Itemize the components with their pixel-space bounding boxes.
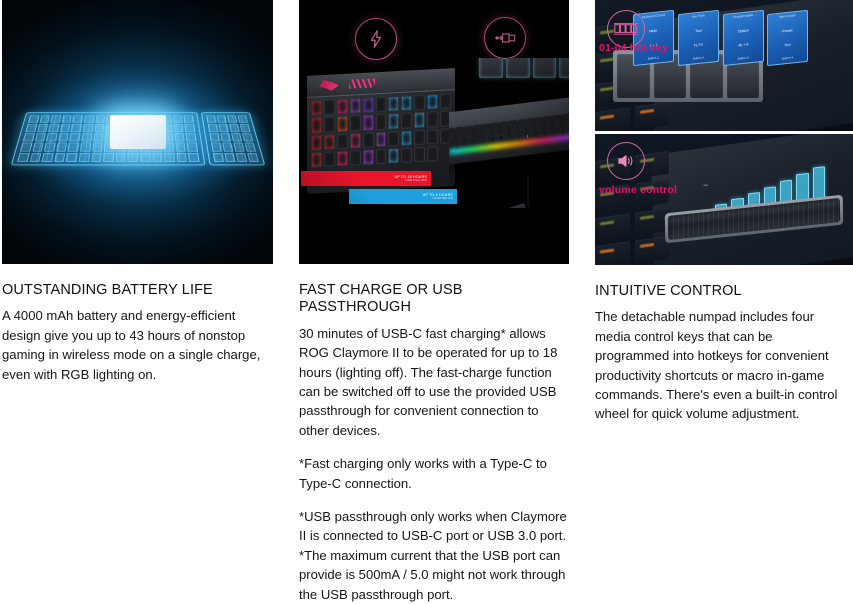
feature-column-battery: OUTSTANDING BATTERY LIFE A 4000 mAh batt…	[2, 0, 273, 384]
hot-key-card: Macro Audio Preset Tool Button 4	[767, 10, 808, 66]
volume-decrease-label: −	[703, 180, 708, 190]
rog-stripe-decor	[349, 78, 375, 88]
card-line1: Mute	[649, 28, 657, 33]
feature-body-fast-charge-2: *Fast charging only works with a Type-C …	[299, 454, 569, 493]
feature-heading-intuitive-control: INTUITIVE CONTROL	[595, 283, 853, 300]
keyboard-rgb-key-grid	[311, 93, 451, 167]
feature-column-intuitive-control: Keyboard Control Mute ( ⌄ ) Button 1 Key…	[595, 0, 853, 424]
feature-body-fast-charge-1: 30 minutes of USB-C fast charging* allow…	[299, 324, 569, 440]
feature-highlights-page: OUTSTANDING BATTERY LIFE A 4000 mAh batt…	[0, 0, 853, 604]
feature-column-fast-charge: UP TO 18 HOURS LIGHTING OFF UP TO 6 HOUR…	[299, 0, 569, 604]
card-line2: Tool	[785, 43, 791, 48]
card-title: Macro Audio	[779, 14, 796, 20]
feature-heading-fast-charge: FAST CHARGE OR USB PASSTHROUGH	[299, 282, 569, 317]
hot-key-card: Programmable Option Alt + N Button 3	[723, 10, 764, 66]
usb-passthrough-icon	[484, 17, 526, 59]
battery-xray-image	[2, 0, 273, 264]
numpad-keycaps-glow	[479, 58, 569, 78]
rog-logo-icon	[319, 79, 339, 91]
feature-heading-battery: OUTSTANDING BATTERY LIFE	[2, 282, 273, 299]
card-line2: F1-F2	[694, 43, 703, 48]
card-line1: Tool	[695, 28, 702, 33]
card-button: Button 2	[693, 57, 704, 62]
feature-body-fast-charge-3: *USB passthrough only works when Claymor…	[299, 507, 569, 604]
feature-body-intuitive-control-1: The detachable numpad includes four medi…	[595, 307, 845, 423]
usb-cable	[527, 176, 569, 208]
hot-key-card: Key Tools Tool F1-F2 Button 2	[678, 10, 719, 66]
tag-red-line2: LIGHTING OFF	[394, 179, 427, 182]
claymore-keyboard-rear	[449, 58, 569, 208]
card-line1: Option	[738, 28, 749, 34]
speaker-volume-icon	[607, 142, 645, 180]
volume-panel: − + volume control	[595, 134, 853, 265]
hot-key-caption: 01-04 hot key	[599, 42, 668, 54]
keyboard-rear-body	[449, 95, 569, 165]
card-title: Programmable	[733, 14, 753, 20]
intuitive-control-image: Keyboard Control Mute ( ⌄ ) Button 1 Key…	[595, 0, 853, 265]
battery-cell	[110, 115, 166, 149]
feature-body-battery-1: A 4000 mAh battery and energy-efficient …	[2, 306, 273, 384]
lightning-bolt-icon	[355, 18, 397, 60]
card-line2: Alt + N	[738, 43, 748, 48]
card-button: Button 1	[648, 57, 659, 62]
fast-charge-image: UP TO 18 HOURS LIGHTING OFF UP TO 6 HOUR…	[299, 0, 569, 264]
card-button: Button 3	[737, 57, 748, 62]
volume-control-caption: volume control	[599, 184, 677, 196]
tag-up-to-18-hours: UP TO 18 HOURS LIGHTING OFF	[301, 171, 431, 186]
card-title: Key Tools	[692, 14, 705, 19]
usb-c-plug	[503, 203, 528, 208]
xray-circuit-traces-numpad	[206, 116, 259, 162]
hot-key-callout-cards: Keyboard Control Mute ( ⌄ ) Button 1 Key…	[633, 12, 808, 64]
card-title: Keyboard Control	[642, 14, 665, 20]
tag-up-to-6-hours: UP TO 6 HOURS LIGHTING ON	[349, 189, 457, 204]
hot-key-panel: Keyboard Control Mute ( ⌄ ) Button 1 Key…	[595, 0, 853, 131]
card-line1: Preset	[782, 28, 792, 34]
card-button: Button 4	[782, 57, 793, 62]
